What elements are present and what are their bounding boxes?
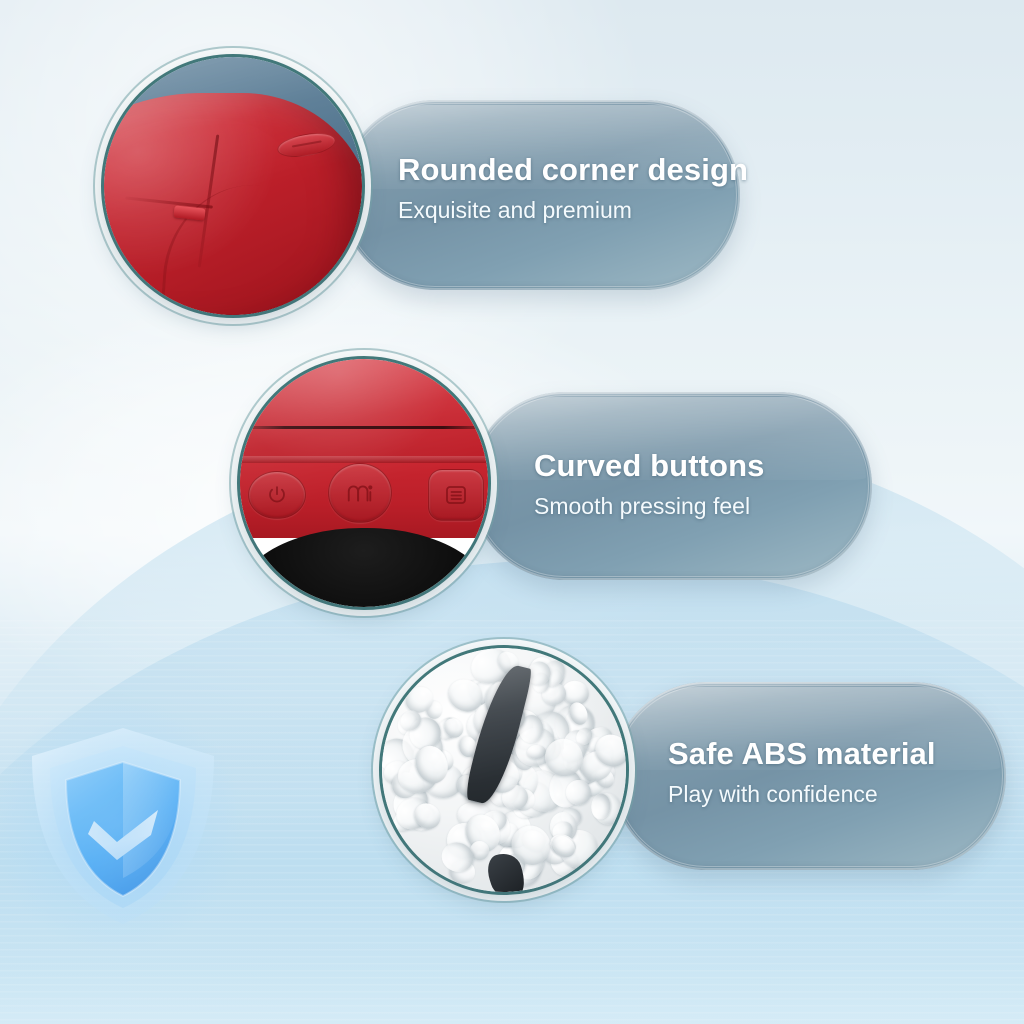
abs-plastic-pellets-photo[interactable] [382, 648, 626, 892]
photo-2-ridge [240, 456, 488, 463]
safety-shield-badge [18, 718, 228, 934]
feature-3-subtitle: Play with confidence [668, 781, 998, 808]
infographic-canvas: Rounded corner design Exquisite and prem… [0, 0, 1024, 1024]
feature-1-title: Rounded corner design [398, 152, 728, 188]
photo-2-inner [240, 359, 488, 607]
red-product-control-buttons-photo[interactable] [240, 359, 488, 607]
photo-1-red-shell [104, 93, 362, 315]
power-button-icon[interactable] [248, 471, 306, 519]
feature-1-text-block: Rounded corner design Exquisite and prem… [398, 152, 728, 224]
menu-button-icon[interactable] [428, 469, 484, 521]
shield-glow [0, 700, 242, 950]
mode-button-icon[interactable] [328, 463, 392, 523]
photo-1-corner-curve [159, 179, 319, 315]
feature-3-text-block: Safe ABS material Play with confidence [668, 736, 998, 808]
feature-2-text-block: Curved buttons Smooth pressing feel [534, 448, 864, 520]
feature-2-title: Curved buttons [534, 448, 864, 484]
photo-2-dark-base [240, 528, 488, 607]
feature-1-subtitle: Exquisite and premium [398, 197, 728, 224]
photo-2-seam-line [240, 426, 488, 429]
photo-1-oval-slot [292, 141, 322, 149]
feature-3-title: Safe ABS material [668, 736, 998, 772]
feature-2-subtitle: Smooth pressing feel [534, 493, 864, 520]
photo-3-inner [382, 648, 626, 892]
red-product-rounded-corner-photo[interactable] [104, 57, 362, 315]
photo-1-inner [104, 57, 362, 315]
